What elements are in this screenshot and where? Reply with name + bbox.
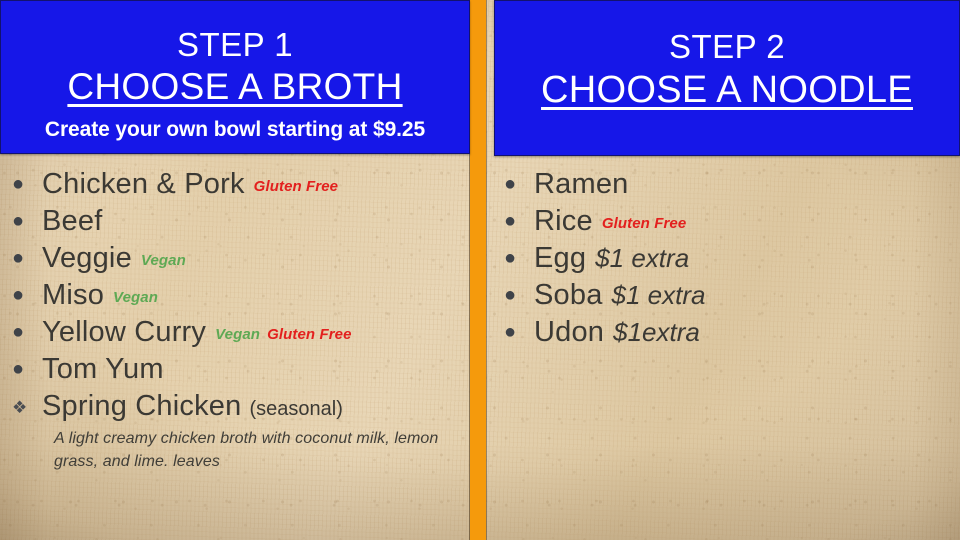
vegan-badge: Vegan — [141, 252, 186, 269]
column-divider — [470, 0, 486, 540]
menu-item-chicken-pork[interactable]: ●Chicken & PorkGluten Free — [12, 168, 470, 205]
broth-column: STEP 1 CHOOSE A BROTH Create your own bo… — [0, 0, 470, 540]
gluten-free-badge: Gluten Free — [254, 178, 338, 195]
menu-item-label: Spring Chicken — [42, 390, 241, 423]
bullet-icon: ● — [12, 322, 42, 342]
vegan-badge: Vegan — [113, 289, 158, 306]
broth-list: ●Chicken & PorkGluten Free●Beef●VeggieVe… — [0, 168, 470, 473]
bullet-icon: ● — [504, 248, 534, 268]
menu-item-label: Rice — [534, 205, 593, 238]
menu-item-label: Ramen — [534, 168, 629, 201]
menu-item-udon[interactable]: ●Udon$1extra — [504, 316, 960, 353]
broth-subtitle: Create your own bowl starting at $9.25 — [1, 118, 469, 142]
menu-item-yellow-curry[interactable]: ●Yellow CurryVeganGluten Free — [12, 316, 470, 353]
gluten-free-badge: Gluten Free — [267, 326, 351, 343]
menu-item-spring-chicken[interactable]: ❖Spring Chicken(seasonal) — [12, 390, 470, 427]
gluten-free-badge: Gluten Free — [602, 215, 686, 232]
menu-item-label: Tom Yum — [42, 353, 164, 386]
menu-item-miso[interactable]: ●MisoVegan — [12, 279, 470, 316]
menu-item-label: Udon — [534, 316, 604, 349]
bullet-icon: ● — [12, 248, 42, 268]
menu-item-ramen[interactable]: ●Ramen — [504, 168, 960, 205]
bullet-icon: ● — [504, 285, 534, 305]
menu-item-label: Chicken & Pork — [42, 168, 245, 201]
menu-item-price: $1extra — [613, 317, 700, 348]
menu-item-label: Egg — [534, 242, 586, 275]
bullet-icon: ● — [504, 174, 534, 194]
bullet-icon: ● — [12, 211, 42, 231]
menu-item-beef[interactable]: ●Beef — [12, 205, 470, 242]
broth-header-banner: STEP 1 CHOOSE A BROTH Create your own bo… — [0, 0, 470, 154]
spring-chicken-description: A light creamy chicken broth with coconu… — [54, 428, 454, 473]
menu-item-note: (seasonal) — [249, 398, 342, 421]
menu-item-soba[interactable]: ●Soba$1 extra — [504, 279, 960, 316]
noodle-title: CHOOSE A NOODLE — [495, 68, 959, 113]
diamond-bullet-icon: ❖ — [12, 399, 42, 416]
noodle-step-label: STEP 2 — [495, 29, 959, 66]
menu-item-label: Soba — [534, 279, 603, 312]
menu-item-tom-yum[interactable]: ●Tom Yum — [12, 353, 470, 390]
broth-title: CHOOSE A BROTH — [1, 65, 469, 109]
vegan-badge: Vegan — [215, 326, 260, 343]
menu-item-price: $1 extra — [595, 243, 689, 274]
menu-item-rice[interactable]: ●RiceGluten Free — [504, 205, 960, 242]
menu-item-egg[interactable]: ●Egg$1 extra — [504, 242, 960, 279]
noodle-header-banner: STEP 2 CHOOSE A NOODLE — [494, 0, 960, 156]
broth-step-label: STEP 1 — [1, 27, 469, 64]
bullet-icon: ● — [12, 285, 42, 305]
bullet-icon: ● — [504, 211, 534, 231]
menu-item-label: Miso — [42, 279, 104, 312]
menu-item-label: Veggie — [42, 242, 132, 275]
menu-item-price: $1 extra — [612, 280, 706, 311]
bullet-icon: ● — [12, 359, 42, 379]
bullet-icon: ● — [504, 322, 534, 342]
bullet-icon: ● — [12, 174, 42, 194]
menu-item-veggie[interactable]: ●VeggieVegan — [12, 242, 470, 279]
noodle-list: ●Ramen●RiceGluten Free●Egg$1 extra●Soba$… — [486, 168, 960, 353]
menu-item-label: Yellow Curry — [42, 316, 206, 349]
menu-item-label: Beef — [42, 205, 102, 238]
noodle-column: STEP 2 CHOOSE A NOODLE ●Ramen●RiceGluten… — [486, 0, 960, 540]
